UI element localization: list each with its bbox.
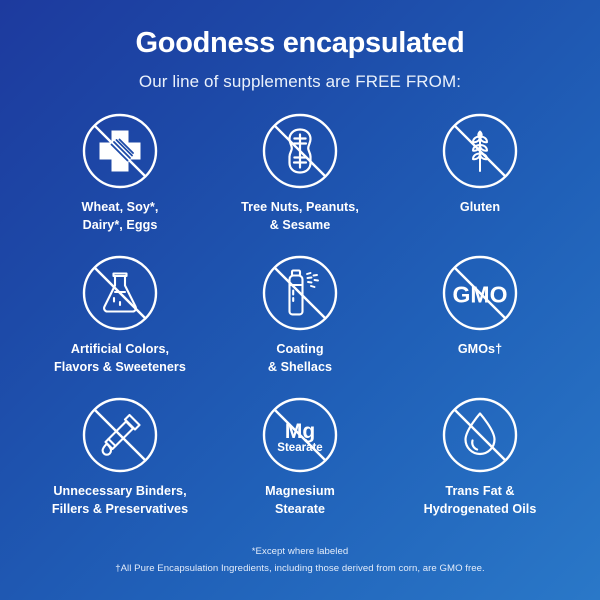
no-gmo-icon: GMO [441,254,519,332]
no-peanut-icon [261,112,339,190]
grid-item-label: Wheat, Soy*, Dairy*, Eggs [82,199,159,234]
grid-item-wheat-soy-dairy-eggs: Wheat, Soy*, Dairy*, Eggs [30,112,210,254]
page-subtitle: Our line of supplements are FREE FROM: [30,72,570,92]
grid-item-label: Artificial Colors, Flavors & Sweeteners [54,341,186,376]
grid-item-tree-nuts-peanuts-sesame: Tree Nuts, Peanuts, & Sesame [210,112,390,254]
grid-item-label: GMOs† [458,341,502,358]
footnote-dagger: †All Pure Encapsulation Ingredients, inc… [30,561,570,578]
grid-item-label: Tree Nuts, Peanuts, & Sesame [241,199,359,234]
grid-item-label: Coating & Shellacs [268,341,332,376]
grid-item-label: Gluten [460,199,500,216]
free-from-grid: Wheat, Soy*, Dairy*, Eggs [30,112,570,538]
grid-item-label: Magnesium Stearate [265,483,335,518]
no-dropper-icon [81,396,159,474]
footnotes: *Except where labeled †All Pure Encapsul… [30,544,570,586]
no-spray-can-icon [261,254,339,332]
page-title: Goodness encapsulated [30,26,570,60]
grid-item-gmos: GMO GMOs† [390,254,570,396]
grid-item-magnesium-stearate: Mg Stearate Magnesium Stearate [210,396,390,538]
free-from-infographic: Goodness encapsulated Our line of supple… [0,0,600,600]
grid-item-label: Trans Fat & Hydrogenated Oils [424,483,537,518]
no-gluten-wheat-stalk-icon [441,112,519,190]
grid-item-gluten: Gluten [390,112,570,254]
mg-icon-text: Mg [285,420,315,443]
no-oil-droplet-icon [441,396,519,474]
header: Goodness encapsulated Our line of supple… [30,26,570,92]
footnote-asterisk: *Except where labeled [30,544,570,561]
no-wheat-soy-dairy-eggs-icon [81,112,159,190]
grid-item-trans-fat: Trans Fat & Hydrogenated Oils [390,396,570,538]
gmo-icon-text: GMO [453,282,508,308]
grid-item-label: Unnecessary Binders, Fillers & Preservat… [52,483,188,518]
no-magnesium-stearate-icon: Mg Stearate [261,396,339,474]
grid-item-artificial-colors: Artificial Colors, Flavors & Sweeteners [30,254,210,396]
grid-item-unnecessary-binders: Unnecessary Binders, Fillers & Preservat… [30,396,210,538]
stearate-icon-text: Stearate [277,442,322,454]
grid-item-coating-shellacs: Coating & Shellacs [210,254,390,396]
no-flask-icon [81,254,159,332]
